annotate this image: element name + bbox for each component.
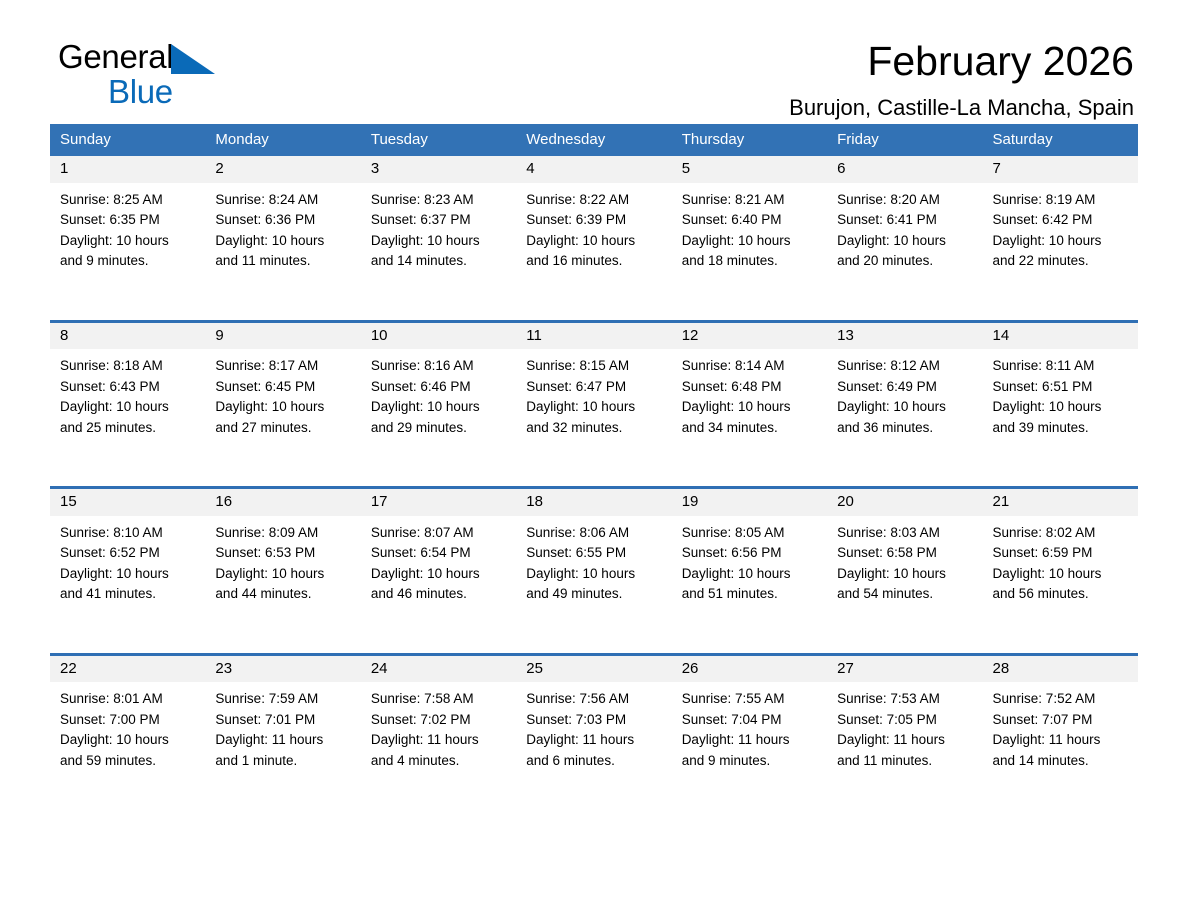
day-cell[interactable]: 4 Sunrise: 8:22 AM Sunset: 6:39 PM Dayli… xyxy=(516,156,671,321)
day-number: 17 xyxy=(361,489,516,516)
day-details: Sunrise: 8:25 AM Sunset: 6:35 PM Dayligh… xyxy=(50,183,205,272)
day-cell[interactable]: 23 Sunrise: 7:59 AM Sunset: 7:01 PM Dayl… xyxy=(205,656,360,821)
weekday-header-thursday: Thursday xyxy=(672,124,827,156)
weekday-header-saturday: Saturday xyxy=(983,124,1138,156)
day-cell[interactable]: 2 Sunrise: 8:24 AM Sunset: 6:36 PM Dayli… xyxy=(205,156,360,321)
day-cell[interactable]: 10 Sunrise: 8:16 AM Sunset: 6:46 PM Dayl… xyxy=(361,323,516,488)
day-number: 12 xyxy=(672,323,827,350)
day-cell[interactable]: 9 Sunrise: 8:17 AM Sunset: 6:45 PM Dayli… xyxy=(205,323,360,488)
day-number: 23 xyxy=(205,656,360,683)
day-cell[interactable]: 5 Sunrise: 8:21 AM Sunset: 6:40 PM Dayli… xyxy=(672,156,827,321)
weekday-header-tuesday: Tuesday xyxy=(361,124,516,156)
day-number: 15 xyxy=(50,489,205,516)
day-details: Sunrise: 8:10 AM Sunset: 6:52 PM Dayligh… xyxy=(50,516,205,605)
day-details: Sunrise: 8:19 AM Sunset: 6:42 PM Dayligh… xyxy=(983,183,1138,272)
day-number: 24 xyxy=(361,656,516,683)
day-details: Sunrise: 8:05 AM Sunset: 6:56 PM Dayligh… xyxy=(672,516,827,605)
weekday-header-row: Sunday Monday Tuesday Wednesday Thursday… xyxy=(50,124,1138,156)
day-details: Sunrise: 8:14 AM Sunset: 6:48 PM Dayligh… xyxy=(672,349,827,438)
generalblue-logo[interactable]: General Blue xyxy=(58,40,318,118)
day-number: 11 xyxy=(516,323,671,350)
day-cell[interactable]: 11 Sunrise: 8:15 AM Sunset: 6:47 PM Dayl… xyxy=(516,323,671,488)
day-number: 7 xyxy=(983,156,1138,183)
weekday-header-wednesday: Wednesday xyxy=(516,124,671,156)
day-details: Sunrise: 8:16 AM Sunset: 6:46 PM Dayligh… xyxy=(361,349,516,438)
calendar-page: General Blue February 2026 Burujon, Cast… xyxy=(0,0,1188,918)
day-details: Sunrise: 7:58 AM Sunset: 7:02 PM Dayligh… xyxy=(361,682,516,771)
weekday-header-sunday: Sunday xyxy=(50,124,205,156)
day-number: 6 xyxy=(827,156,982,183)
day-number: 26 xyxy=(672,656,827,683)
day-number: 8 xyxy=(50,323,205,350)
day-cell[interactable]: 20 Sunrise: 8:03 AM Sunset: 6:58 PM Dayl… xyxy=(827,489,982,654)
day-cell[interactable]: 21 Sunrise: 8:02 AM Sunset: 6:59 PM Dayl… xyxy=(983,489,1138,654)
day-number: 20 xyxy=(827,489,982,516)
day-cell[interactable]: 13 Sunrise: 8:12 AM Sunset: 6:49 PM Dayl… xyxy=(827,323,982,488)
day-number: 2 xyxy=(205,156,360,183)
day-cell[interactable]: 24 Sunrise: 7:58 AM Sunset: 7:02 PM Dayl… xyxy=(361,656,516,821)
day-details: Sunrise: 8:03 AM Sunset: 6:58 PM Dayligh… xyxy=(827,516,982,605)
logo-triangle-icon xyxy=(171,44,215,79)
day-details: Sunrise: 8:21 AM Sunset: 6:40 PM Dayligh… xyxy=(672,183,827,272)
day-cell[interactable]: 27 Sunrise: 7:53 AM Sunset: 7:05 PM Dayl… xyxy=(827,656,982,821)
calendar-body: 1 Sunrise: 8:25 AM Sunset: 6:35 PM Dayli… xyxy=(50,156,1138,821)
weekday-header-friday: Friday xyxy=(827,124,982,156)
day-number: 4 xyxy=(516,156,671,183)
page-header: General Blue February 2026 Burujon, Cast… xyxy=(50,0,1138,110)
day-number: 25 xyxy=(516,656,671,683)
day-details: Sunrise: 7:59 AM Sunset: 7:01 PM Dayligh… xyxy=(205,682,360,771)
day-number: 21 xyxy=(983,489,1138,516)
day-cell[interactable]: 14 Sunrise: 8:11 AM Sunset: 6:51 PM Dayl… xyxy=(983,323,1138,488)
day-cell[interactable]: 19 Sunrise: 8:05 AM Sunset: 6:56 PM Dayl… xyxy=(672,489,827,654)
day-number: 5 xyxy=(672,156,827,183)
logo-text-general-row: General xyxy=(58,40,318,79)
week-row: 8 Sunrise: 8:18 AM Sunset: 6:43 PM Dayli… xyxy=(50,323,1138,488)
week-row: 15 Sunrise: 8:10 AM Sunset: 6:52 PM Dayl… xyxy=(50,489,1138,654)
day-number: 18 xyxy=(516,489,671,516)
day-details: Sunrise: 8:20 AM Sunset: 6:41 PM Dayligh… xyxy=(827,183,982,272)
week-row: 1 Sunrise: 8:25 AM Sunset: 6:35 PM Dayli… xyxy=(50,156,1138,321)
day-details: Sunrise: 8:24 AM Sunset: 6:36 PM Dayligh… xyxy=(205,183,360,272)
day-number: 19 xyxy=(672,489,827,516)
day-number: 9 xyxy=(205,323,360,350)
day-cell[interactable]: 7 Sunrise: 8:19 AM Sunset: 6:42 PM Dayli… xyxy=(983,156,1138,321)
day-details: Sunrise: 8:17 AM Sunset: 6:45 PM Dayligh… xyxy=(205,349,360,438)
day-number: 22 xyxy=(50,656,205,683)
day-cell[interactable]: 6 Sunrise: 8:20 AM Sunset: 6:41 PM Dayli… xyxy=(827,156,982,321)
day-number: 27 xyxy=(827,656,982,683)
day-cell[interactable]: 17 Sunrise: 8:07 AM Sunset: 6:54 PM Dayl… xyxy=(361,489,516,654)
calendar-header-row-group: Sunday Monday Tuesday Wednesday Thursday… xyxy=(50,124,1138,156)
day-details: Sunrise: 8:15 AM Sunset: 6:47 PM Dayligh… xyxy=(516,349,671,438)
day-details: Sunrise: 8:02 AM Sunset: 6:59 PM Dayligh… xyxy=(983,516,1138,605)
day-number: 10 xyxy=(361,323,516,350)
day-details: Sunrise: 8:07 AM Sunset: 6:54 PM Dayligh… xyxy=(361,516,516,605)
day-cell[interactable]: 26 Sunrise: 7:55 AM Sunset: 7:04 PM Dayl… xyxy=(672,656,827,821)
day-details: Sunrise: 8:18 AM Sunset: 6:43 PM Dayligh… xyxy=(50,349,205,438)
day-details: Sunrise: 8:11 AM Sunset: 6:51 PM Dayligh… xyxy=(983,349,1138,438)
day-details: Sunrise: 8:12 AM Sunset: 6:49 PM Dayligh… xyxy=(827,349,982,438)
day-cell[interactable]: 22 Sunrise: 8:01 AM Sunset: 7:00 PM Dayl… xyxy=(50,656,205,821)
day-number: 13 xyxy=(827,323,982,350)
day-details: Sunrise: 7:53 AM Sunset: 7:05 PM Dayligh… xyxy=(827,682,982,771)
logo-text-blue: Blue xyxy=(108,75,318,108)
day-details: Sunrise: 8:09 AM Sunset: 6:53 PM Dayligh… xyxy=(205,516,360,605)
day-cell[interactable]: 28 Sunrise: 7:52 AM Sunset: 7:07 PM Dayl… xyxy=(983,656,1138,821)
day-details: Sunrise: 7:52 AM Sunset: 7:07 PM Dayligh… xyxy=(983,682,1138,771)
day-cell[interactable]: 3 Sunrise: 8:23 AM Sunset: 6:37 PM Dayli… xyxy=(361,156,516,321)
day-cell[interactable]: 16 Sunrise: 8:09 AM Sunset: 6:53 PM Dayl… xyxy=(205,489,360,654)
day-cell[interactable]: 1 Sunrise: 8:25 AM Sunset: 6:35 PM Dayli… xyxy=(50,156,205,321)
day-number: 28 xyxy=(983,656,1138,683)
day-number: 3 xyxy=(361,156,516,183)
day-number: 16 xyxy=(205,489,360,516)
day-cell[interactable]: 25 Sunrise: 7:56 AM Sunset: 7:03 PM Dayl… xyxy=(516,656,671,821)
day-cell[interactable]: 12 Sunrise: 8:14 AM Sunset: 6:48 PM Dayl… xyxy=(672,323,827,488)
day-details: Sunrise: 8:06 AM Sunset: 6:55 PM Dayligh… xyxy=(516,516,671,605)
day-details: Sunrise: 8:22 AM Sunset: 6:39 PM Dayligh… xyxy=(516,183,671,272)
day-details: Sunrise: 8:01 AM Sunset: 7:00 PM Dayligh… xyxy=(50,682,205,771)
day-details: Sunrise: 7:55 AM Sunset: 7:04 PM Dayligh… xyxy=(672,682,827,771)
sunrise-sunset-calendar: Sunday Monday Tuesday Wednesday Thursday… xyxy=(50,124,1138,821)
day-cell[interactable]: 18 Sunrise: 8:06 AM Sunset: 6:55 PM Dayl… xyxy=(516,489,671,654)
day-number: 14 xyxy=(983,323,1138,350)
day-number: 1 xyxy=(50,156,205,183)
day-details: Sunrise: 8:23 AM Sunset: 6:37 PM Dayligh… xyxy=(361,183,516,272)
day-cell[interactable]: 15 Sunrise: 8:10 AM Sunset: 6:52 PM Dayl… xyxy=(50,489,205,654)
weekday-header-monday: Monday xyxy=(205,124,360,156)
day-cell[interactable]: 8 Sunrise: 8:18 AM Sunset: 6:43 PM Dayli… xyxy=(50,323,205,488)
week-row: 22 Sunrise: 8:01 AM Sunset: 7:00 PM Dayl… xyxy=(50,656,1138,821)
logo-text-general: General xyxy=(58,38,173,75)
day-details: Sunrise: 7:56 AM Sunset: 7:03 PM Dayligh… xyxy=(516,682,671,771)
